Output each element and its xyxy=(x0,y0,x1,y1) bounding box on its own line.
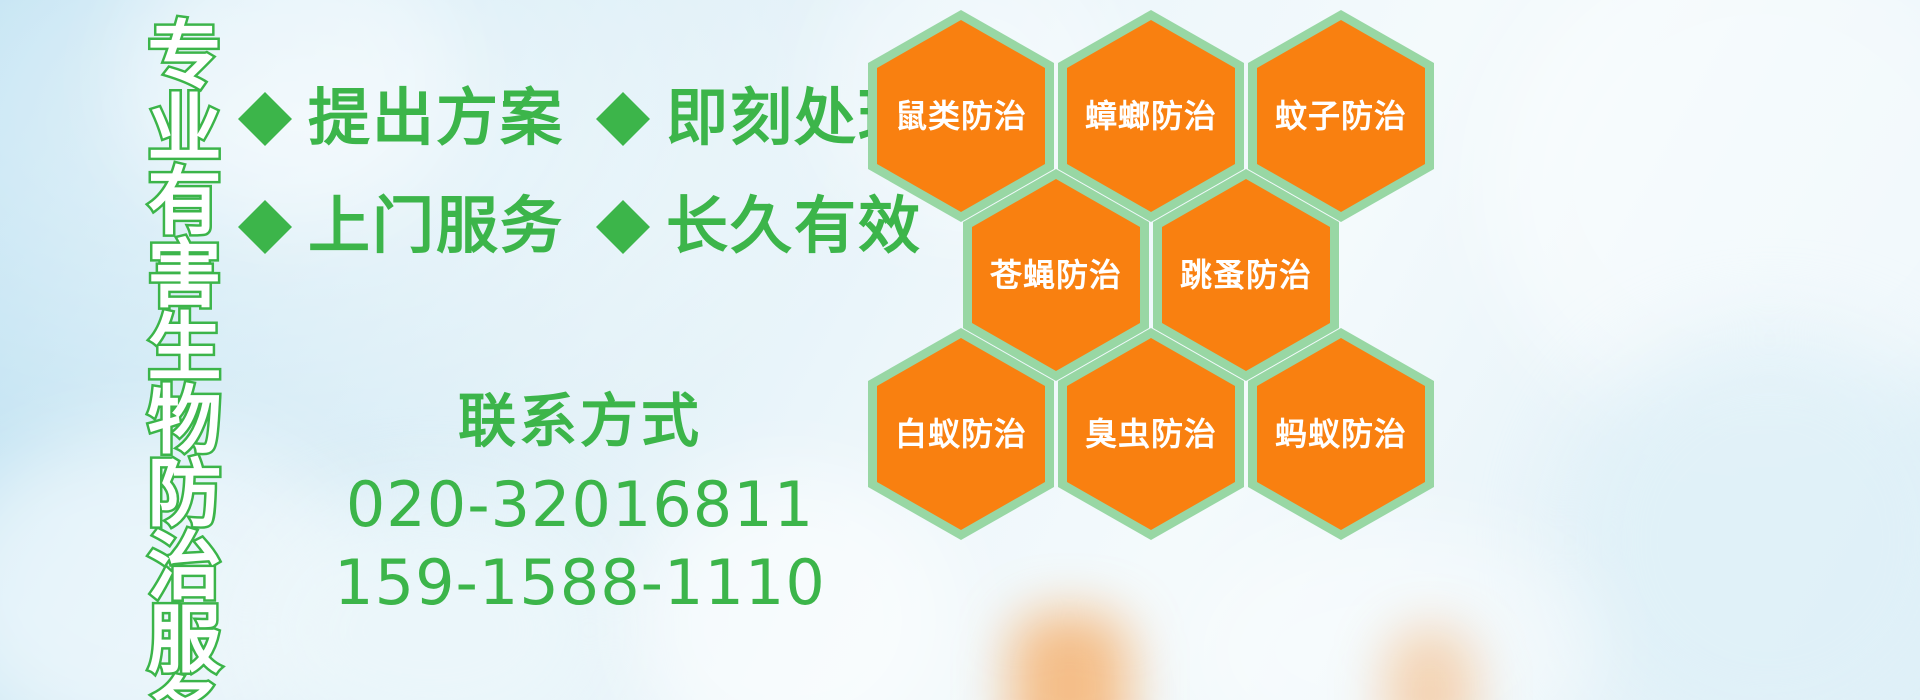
feature-row: 上门服务 长久有效 xyxy=(236,196,922,258)
hex-label: 白蚁防治 xyxy=(895,418,1027,450)
hex-label: 鼠类防治 xyxy=(895,100,1027,132)
contact-block: 联系方式 020-32016811 159-1588-1110 xyxy=(300,390,860,622)
hex-label: 蚂蚁防治 xyxy=(1275,418,1407,450)
contact-phone-landline[interactable]: 020-32016811 xyxy=(300,466,860,544)
hex-cell-bedbug-control[interactable]: 臭虫防治 xyxy=(1058,328,1244,540)
diamond-icon xyxy=(236,90,294,148)
feature-item-propose-plan: 提出方案 xyxy=(236,88,564,150)
vertical-headline: 专业有害生物防治服务 xyxy=(128,16,214,684)
feature-label: 提出方案 xyxy=(308,88,564,150)
hex-label: 蚊子防治 xyxy=(1275,100,1407,132)
service-hexagon-grid: 鼠类防治 蟑螂防治 蚊子防治 苍蝇防治 跳蚤防治 白蚁防治 xyxy=(860,0,1460,700)
hex-cell-termite-control[interactable]: 白蚁防治 xyxy=(868,328,1054,540)
contact-heading: 联系方式 xyxy=(300,390,860,454)
contact-phone-mobile[interactable]: 159-1588-1110 xyxy=(300,544,860,622)
feature-row: 提出方案 即刻处理 xyxy=(236,88,922,150)
feature-label: 上门服务 xyxy=(308,196,564,258)
background-blob xyxy=(1560,330,1920,700)
hex-label: 苍蝇防治 xyxy=(990,259,1122,291)
pest-control-banner: 专业有害生物防治服务 提出方案 即刻处理 xyxy=(0,0,1920,700)
background-blob xyxy=(1480,0,1920,440)
diamond-icon xyxy=(594,198,652,256)
hex-label: 蟑螂防治 xyxy=(1085,100,1217,132)
diamond-icon xyxy=(594,90,652,148)
hex-cell-ant-control[interactable]: 蚂蚁防治 xyxy=(1248,328,1434,540)
hex-label: 臭虫防治 xyxy=(1085,418,1217,450)
feature-item-onsite-service: 上门服务 xyxy=(236,196,564,258)
diamond-icon xyxy=(236,198,294,256)
hex-label: 跳蚤防治 xyxy=(1180,259,1312,291)
